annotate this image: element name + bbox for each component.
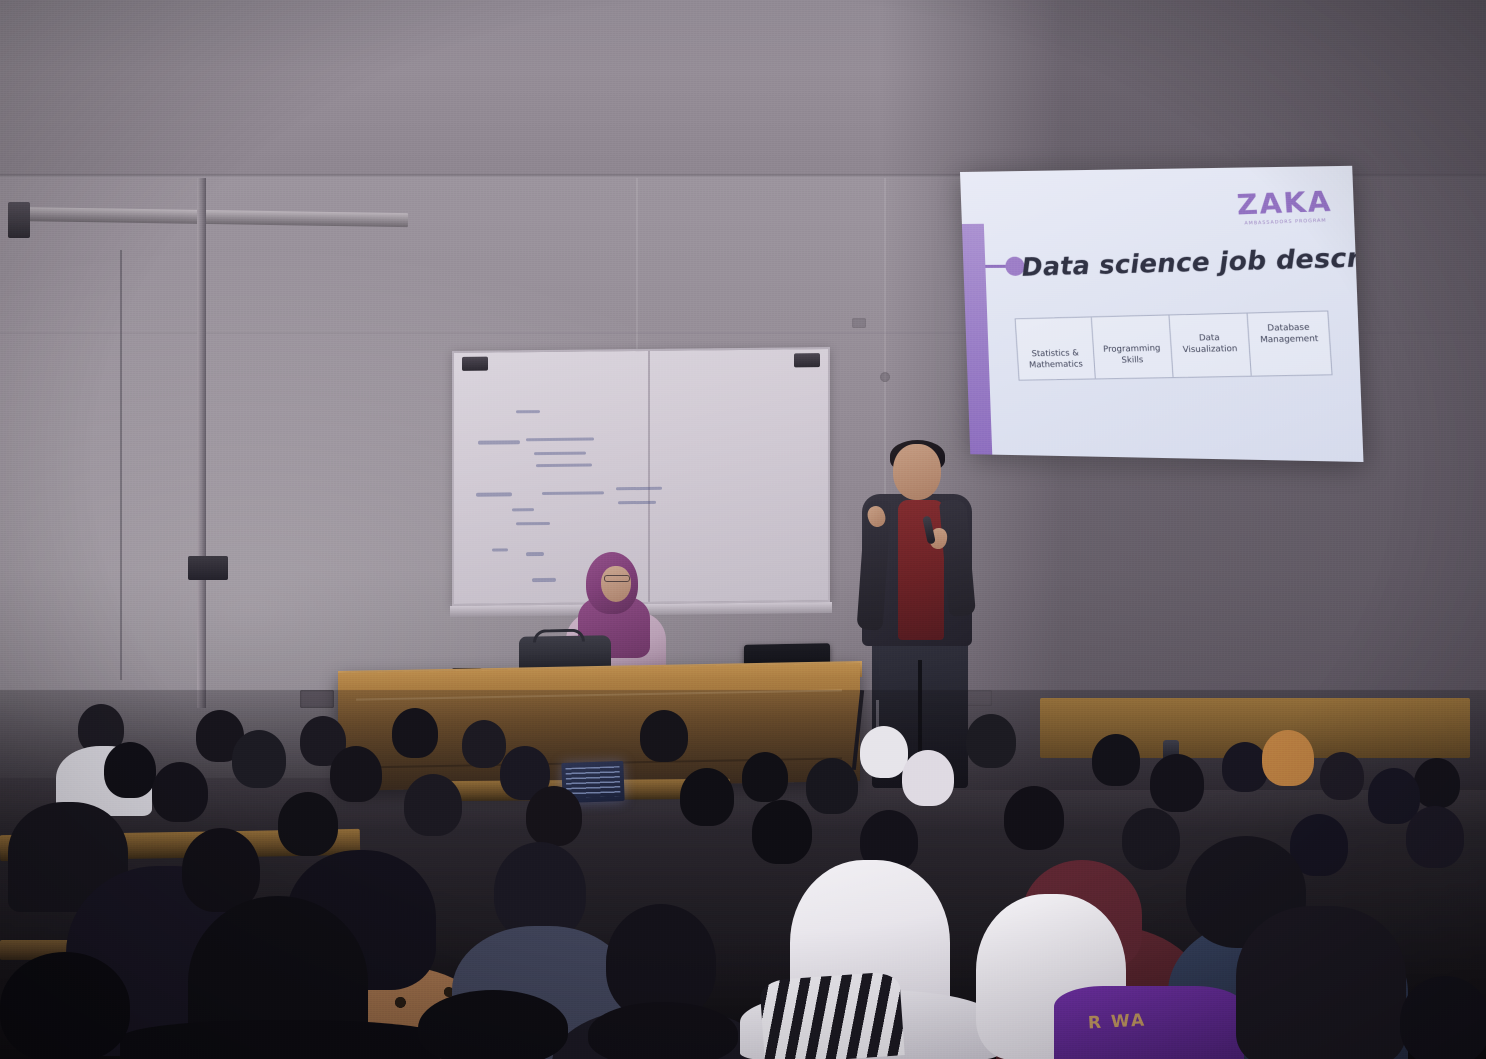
audience-head: [330, 746, 382, 802]
seated-host-face: [601, 566, 631, 602]
zaka-logo-mark: ZAKA: [1236, 188, 1333, 220]
audience-head: [1122, 808, 1180, 870]
audience-head-hijab: [1262, 730, 1314, 786]
whiteboard-writing: [492, 548, 508, 551]
audience-head: [1400, 976, 1486, 1059]
wall-conduit-pipe: [197, 178, 206, 708]
hoodie-text: R WA: [1088, 1010, 1147, 1033]
audience-head: [742, 752, 788, 802]
audience-head: [104, 742, 156, 798]
slide-table-cell: Database Management: [1248, 311, 1332, 375]
presentation-slide: ZAKA AMBASSADORS PROGRAM Data science jo…: [960, 166, 1363, 462]
audience-head: [1150, 754, 1204, 812]
curtain-rail-bracket: [8, 202, 30, 238]
wall-mark: [852, 318, 866, 328]
audience-head: [1414, 758, 1460, 808]
audience-head: [680, 768, 734, 826]
whiteboard-clip: [462, 357, 488, 371]
whiteboard-writing: [616, 487, 662, 490]
whiteboard-clip: [794, 353, 820, 367]
audience-head: [1092, 734, 1140, 786]
audience-head: [152, 762, 208, 822]
presenter-head: [893, 444, 941, 500]
presenter-sweater: [898, 500, 944, 640]
whiteboard-writing: [526, 437, 594, 441]
audience-head: [1406, 806, 1464, 868]
wall-mark: [880, 372, 890, 382]
whiteboard-writing: [618, 501, 656, 504]
whiteboard-writing: [478, 440, 520, 444]
purple-hoodie: [1054, 986, 1244, 1059]
audience-head: [418, 990, 568, 1059]
lecture-hall-photo: ZAKA AMBASSADORS PROGRAM Data science jo…: [0, 0, 1486, 1059]
slide-skills-table: Statistics & Mathematics Programming Ski…: [1015, 310, 1333, 380]
audience-head: [806, 758, 858, 814]
audience-head: [640, 710, 688, 762]
whiteboard-writing: [476, 492, 512, 496]
wall-wire: [120, 250, 122, 680]
audience-shoulders: [120, 1020, 450, 1059]
audience-head-hijab: [1236, 906, 1406, 1059]
whiteboard-writing: [536, 464, 592, 468]
whiteboard-divider: [648, 351, 650, 602]
audience-head: [182, 828, 260, 912]
audience-head: [966, 714, 1016, 768]
audience-head: [278, 792, 338, 856]
striped-shirt: [759, 971, 905, 1059]
conduit-junction-box: [188, 556, 228, 580]
zaka-logo: ZAKA AMBASSADORS PROGRAM: [1236, 188, 1333, 227]
whiteboard-writing: [516, 522, 550, 525]
whiteboard-writing: [532, 578, 556, 582]
slide-table-cell: Statistics & Mathematics: [1016, 317, 1096, 379]
projection-screen: ZAKA AMBASSADORS PROGRAM Data science jo…: [960, 166, 1363, 462]
audience-head: [526, 786, 582, 846]
whiteboard-writing: [516, 410, 540, 413]
audience-head: [404, 774, 462, 836]
whiteboard: [452, 347, 830, 606]
slide-title: Data science job description: [1021, 240, 1364, 282]
wall-panel-seam: [636, 178, 638, 358]
audience-head: [392, 708, 438, 758]
audience-head: [0, 952, 130, 1059]
whiteboard-writing: [542, 491, 604, 495]
audience-head: [752, 800, 812, 864]
audience-head: [232, 730, 286, 788]
glasses-icon: [604, 575, 630, 582]
audience-head: [1004, 786, 1064, 850]
slide-table-cell: Programming Skills: [1092, 315, 1173, 378]
audience-head: [462, 720, 506, 768]
whiteboard-writing: [526, 552, 544, 556]
audience-head: [1222, 742, 1268, 792]
audience-head-hijab: [860, 726, 908, 778]
slide-table-cell: Data Visualization: [1169, 313, 1252, 377]
laptop-screen-content: [565, 766, 620, 798]
audience-head: [1320, 752, 1364, 800]
audience-head: [588, 1002, 738, 1059]
audience-head-hijab: [902, 750, 954, 806]
whiteboard-writing: [512, 508, 534, 511]
whiteboard-writing: [534, 452, 586, 456]
audience: [0, 690, 1486, 1059]
